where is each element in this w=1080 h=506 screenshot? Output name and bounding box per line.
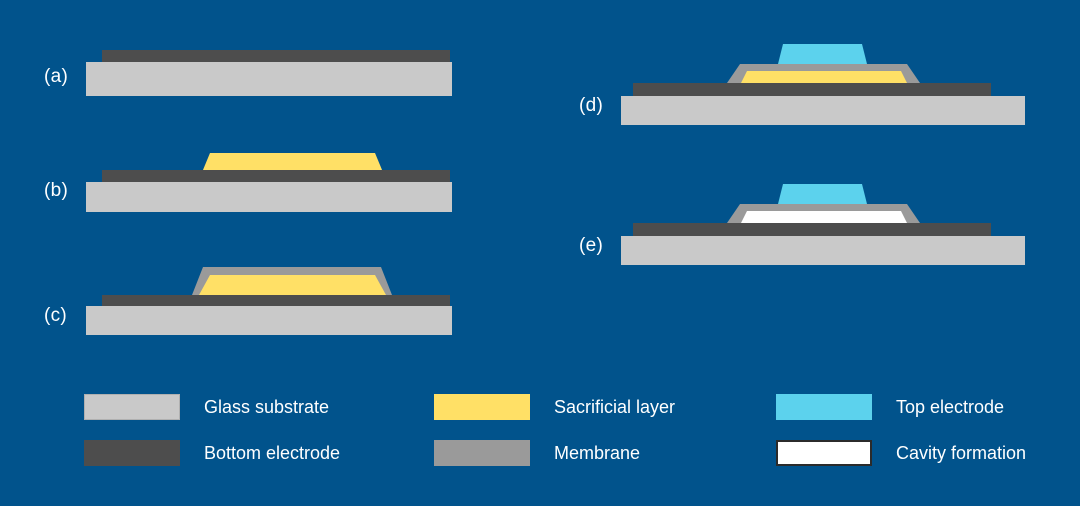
- top-electrode-swatch: [776, 394, 872, 420]
- glass-substrate-layer: [86, 306, 452, 335]
- panel-d-label: (d): [579, 95, 603, 117]
- top-electrode-layer: [778, 44, 867, 64]
- bottom-electrode-layer: [102, 50, 450, 62]
- panel-b-diagram: [40, 140, 500, 215]
- top-electrode-layer: [778, 184, 867, 204]
- legend-column-2: Sacrificial layer Membrane: [434, 378, 784, 483]
- panel-c-label: (c): [44, 305, 67, 327]
- panel-a: (a): [40, 40, 500, 100]
- panel-a-label: (a): [44, 66, 68, 88]
- legend-item-top-electrode: Top electrode: [776, 394, 1004, 420]
- panel-a-diagram: [40, 40, 500, 100]
- glass-substrate-swatch: [84, 394, 180, 420]
- legend-label-membrane: Membrane: [554, 443, 640, 464]
- panel-d-diagram: [575, 35, 1035, 125]
- panel-d: (d): [575, 35, 1035, 125]
- panel-b-label: (b): [44, 180, 68, 202]
- legend-item-glass-substrate: Glass substrate: [84, 394, 329, 420]
- legend-column-1: Glass substrate Bottom electrode: [84, 378, 434, 483]
- legend-label-sacrificial-layer: Sacrificial layer: [554, 397, 675, 418]
- bottom-electrode-layer: [102, 170, 450, 182]
- membrane-swatch: [434, 440, 530, 466]
- panel-e: (e): [575, 175, 1035, 265]
- panel-b: (b): [40, 140, 500, 215]
- sacrificial-layer-swatch: [434, 394, 530, 420]
- glass-substrate-layer: [86, 182, 452, 212]
- legend-column-3: Top electrode Cavity formation: [776, 378, 1080, 483]
- bottom-electrode-swatch: [84, 440, 180, 466]
- legend-item-bottom-electrode: Bottom electrode: [84, 440, 340, 466]
- legend-label-cavity-formation: Cavity formation: [896, 443, 1026, 464]
- cavity-formation-swatch: [776, 440, 872, 466]
- legend: Glass substrate Bottom electrode Sacrifi…: [0, 378, 1080, 483]
- panel-c: (c): [40, 255, 500, 335]
- fabrication-process-figure: (a) (b) (c) (d): [0, 0, 1080, 506]
- bottom-electrode-layer: [102, 295, 450, 306]
- panel-e-diagram: [575, 175, 1035, 265]
- legend-item-sacrificial-layer: Sacrificial layer: [434, 394, 675, 420]
- legend-item-cavity-formation: Cavity formation: [776, 440, 1026, 466]
- panel-c-diagram: [40, 255, 500, 335]
- glass-substrate-layer: [621, 96, 1025, 125]
- legend-label-top-electrode: Top electrode: [896, 397, 1004, 418]
- legend-item-membrane: Membrane: [434, 440, 640, 466]
- bottom-electrode-layer: [633, 223, 991, 236]
- panel-e-label: (e): [579, 235, 603, 257]
- glass-substrate-layer: [86, 62, 452, 96]
- glass-substrate-layer: [621, 236, 1025, 265]
- sacrificial-layer-layer: [199, 275, 386, 295]
- legend-label-bottom-electrode: Bottom electrode: [204, 443, 340, 464]
- bottom-electrode-layer: [633, 83, 991, 96]
- legend-label-glass-substrate: Glass substrate: [204, 397, 329, 418]
